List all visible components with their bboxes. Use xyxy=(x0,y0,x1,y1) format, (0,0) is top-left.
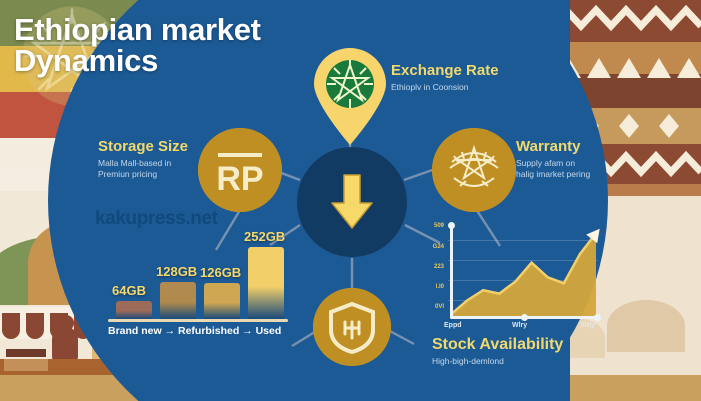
storage-size-subtitle-1: Malla Mall-based in xyxy=(98,158,206,169)
title-line-1: Ethiopian market xyxy=(14,14,261,45)
xtick-2: Sltly xyxy=(580,322,595,329)
storage-size-subtitle-2: Premiun pricing xyxy=(98,169,206,180)
label-warranty: Warranty Supply afam on halig imarket pe… xyxy=(516,138,646,180)
node-storage-size[interactable]: RP xyxy=(198,128,282,212)
bar-baseline xyxy=(108,319,288,322)
bar-126GB xyxy=(204,283,240,319)
label-storage-size: Storage Size Malla Mall-based in Premiun… xyxy=(98,138,206,180)
node-exchange-rate[interactable] xyxy=(308,48,392,146)
warranty-subtitle-2: halig imarket pering xyxy=(516,169,646,180)
rp-coin-icon: RP xyxy=(198,128,282,212)
watermark: kakupress.net xyxy=(95,208,218,230)
stock-availability-subtitle: High-bigh-demlond xyxy=(432,356,602,367)
xtick-1: Wlry xyxy=(512,322,527,329)
storage-size-heading: Storage Size xyxy=(98,138,206,155)
y-axis-cap-dot xyxy=(448,222,455,229)
bar-label-128GB: 128GB xyxy=(156,264,197,279)
page-title: Ethiopian market Dynamics xyxy=(14,14,261,76)
label-stock-availability: Stock Availability High-bigh-demlond xyxy=(432,336,602,367)
exchange-rate-subtitle: Ethioplv in Coonsion xyxy=(391,82,541,93)
bar-label-126GB: 126GB xyxy=(200,265,241,280)
y-axis xyxy=(450,226,453,318)
bar-group: 64GB128GB126GB252GB xyxy=(108,247,288,319)
title-line-2: Dynamics xyxy=(14,45,261,76)
node-stock-availability[interactable] xyxy=(313,288,391,366)
svg-text:RP: RP xyxy=(216,160,263,198)
x-axis-end-dot xyxy=(594,314,601,321)
exchange-rate-heading: Exchange Rate xyxy=(391,62,541,79)
warranty-heading: Warranty xyxy=(516,138,646,155)
infographic-canvas: Ethiopian market Dynamics kakupress.net xyxy=(0,0,701,401)
bar-chart-caption: Brand new → Refurbished → Used xyxy=(108,325,298,337)
xtick-0: Eppd xyxy=(444,322,462,329)
stock-availability-heading: Stock Availability xyxy=(432,336,602,353)
stock-availability-area-chart: 509 G24 223 l.l0 0Vl Eppd Wlry Sltly xyxy=(424,216,604,338)
bar-label-252GB: 252GB xyxy=(244,229,285,244)
label-exchange-rate: Exchange Rate Ethioplv in Coonsion xyxy=(391,62,541,93)
bar-252GB xyxy=(248,247,284,319)
center-hub xyxy=(297,147,407,257)
bar-128GB xyxy=(160,282,196,319)
arrow-down-icon xyxy=(329,173,375,231)
x-axis-mid-dot xyxy=(521,314,528,321)
storage-capacity-bar-chart: 64GB128GB126GB252GB Brand new → Refurbis… xyxy=(108,238,288,333)
shield-icon xyxy=(313,288,391,366)
node-warranty[interactable] xyxy=(432,128,516,212)
bar-64GB xyxy=(116,301,152,319)
warranty-subtitle-1: Supply afam on xyxy=(516,158,646,169)
ethiopian-star-emblem-icon xyxy=(432,128,516,212)
map-pin-ethiopia-star-icon xyxy=(308,48,392,146)
bar-label-64GB: 64GB xyxy=(112,283,146,298)
